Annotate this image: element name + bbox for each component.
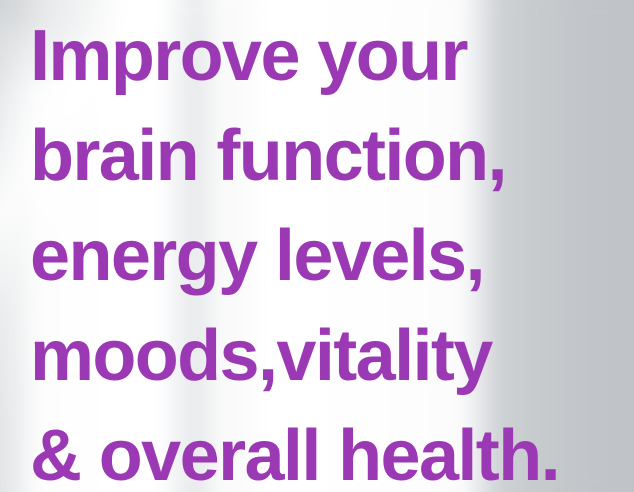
headline-line-2: brain function,: [30, 106, 634, 206]
headline: Improve your brain function, energy leve…: [30, 0, 634, 492]
headline-line-1: Improve your: [30, 6, 634, 106]
banner-root: Improve your brain function, energy leve…: [0, 0, 634, 492]
headline-line-5: & overall health.: [30, 406, 634, 492]
headline-line-3: energy levels,: [30, 206, 634, 306]
headline-line-4: moods,vitality: [30, 306, 634, 406]
